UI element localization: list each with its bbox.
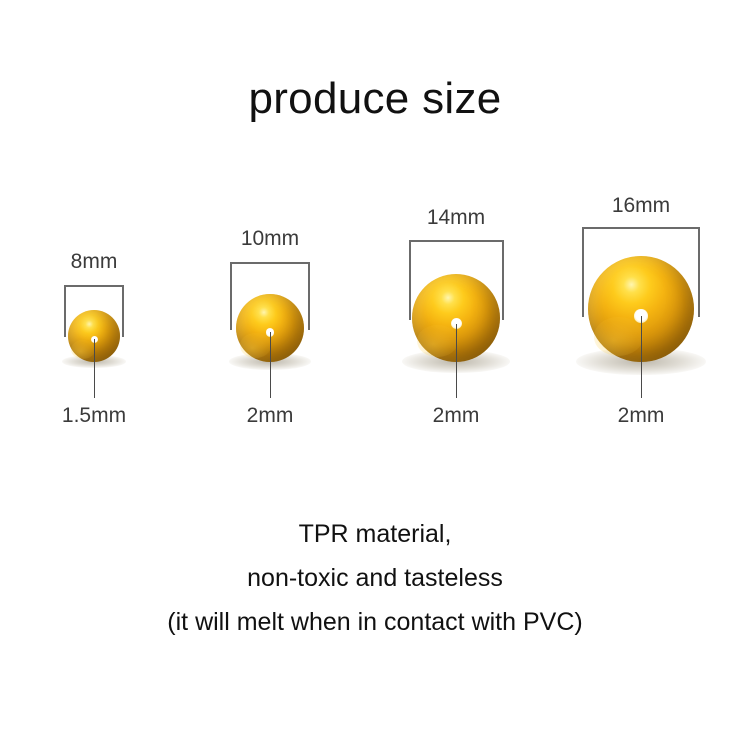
diameter-label-16mm: 16mm bbox=[571, 194, 711, 218]
footer-text-block: TPR material, non-toxic and tasteless (i… bbox=[0, 512, 750, 644]
product-size-diagram: produce size 8mm1.5mm10mm2mm14mm2mm16mm2… bbox=[0, 0, 750, 750]
hole-leader-line bbox=[641, 316, 642, 398]
footer-line-safety: non-toxic and tasteless bbox=[0, 556, 750, 600]
footer-line-warning: (it will melt when in contact with PVC) bbox=[0, 600, 750, 644]
hole-label-3: 2mm bbox=[571, 404, 711, 428]
footer-line-material: TPR material, bbox=[0, 512, 750, 556]
